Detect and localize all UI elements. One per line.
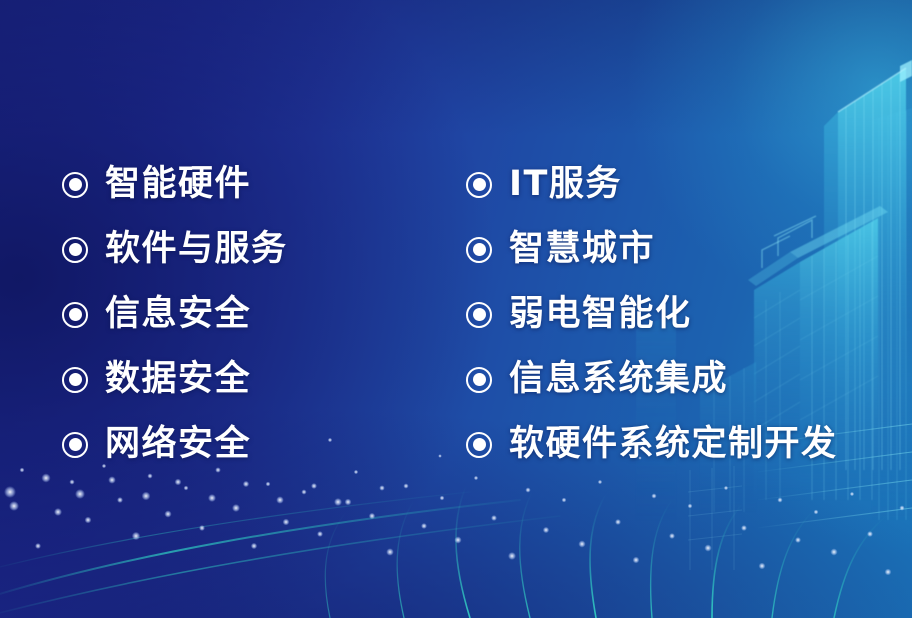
list-item[interactable]: 弱电智能化	[466, 282, 838, 347]
service-column-right: IT服务 智慧城市 弱电智能化 信息系统集成 软硬件系统定制开发	[466, 152, 838, 477]
list-item-label: 软硬件系统定制开发	[509, 427, 838, 462]
radio-filled-icon	[62, 367, 88, 393]
list-item-label: 弱电智能化	[509, 297, 692, 332]
list-item-label: 智慧城市	[509, 232, 655, 267]
list-item[interactable]: 数据安全	[62, 347, 288, 412]
list-item[interactable]: 软硬件系统定制开发	[466, 412, 838, 477]
list-item[interactable]: 智能硬件	[62, 152, 288, 217]
list-item[interactable]: IT服务	[466, 152, 838, 217]
radio-filled-icon	[62, 237, 88, 263]
list-item[interactable]: 智慧城市	[466, 217, 838, 282]
list-item-label: 智能硬件	[105, 167, 251, 202]
service-column-left: 智能硬件 软件与服务 信息安全 数据安全 网络安全	[62, 152, 288, 477]
service-list: 智能硬件 软件与服务 信息安全 数据安全 网络安全 IT服务	[0, 0, 912, 618]
list-item[interactable]: 网络安全	[62, 412, 288, 477]
list-item[interactable]: 信息系统集成	[466, 347, 838, 412]
radio-filled-icon	[466, 432, 492, 458]
list-item-label: 网络安全	[105, 427, 251, 462]
radio-filled-icon	[466, 237, 492, 263]
list-item-label: IT服务	[509, 167, 622, 202]
radio-filled-icon	[466, 302, 492, 328]
list-item-label: 数据安全	[105, 362, 251, 397]
radio-filled-icon	[62, 432, 88, 458]
list-item-label: 软件与服务	[105, 232, 288, 267]
radio-filled-icon	[466, 367, 492, 393]
radio-filled-icon	[62, 172, 88, 198]
radio-filled-icon	[62, 302, 88, 328]
list-item-label: 信息安全	[105, 297, 251, 332]
list-item[interactable]: 信息安全	[62, 282, 288, 347]
list-item[interactable]: 软件与服务	[62, 217, 288, 282]
list-item-label: 信息系统集成	[509, 362, 728, 397]
slide-canvas: 智能硬件 软件与服务 信息安全 数据安全 网络安全 IT服务	[0, 0, 912, 618]
radio-filled-icon	[466, 172, 492, 198]
